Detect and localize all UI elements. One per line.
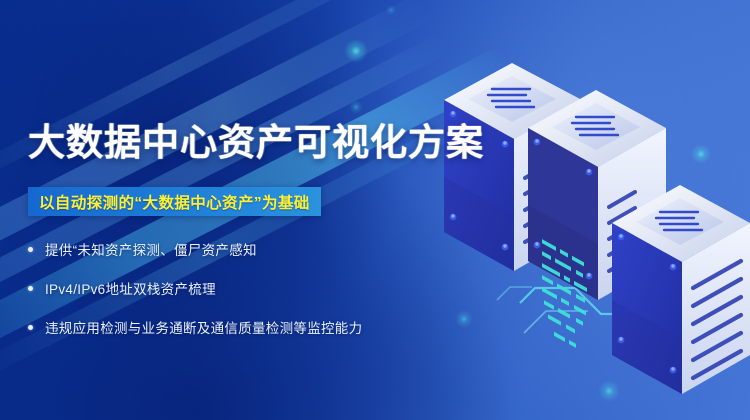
subtitle-highlight-bar: 以自动探测的“大数据中心资产”为基础 [28,187,321,216]
bullet-dot-icon [28,247,33,252]
bullet-dot-icon [28,286,33,291]
bullet-text: IPv4/IPv6地址双栈资产梳理 [45,278,216,298]
bullet-text: 提供“未知资产探测、僵尸资产感知 [45,239,257,259]
page-title: 大数据中心资产可视化方案 [28,124,484,161]
banner-root: 大数据中心资产可视化方案 以自动探测的“大数据中心资产”为基础 提供“未知资产探… [0,0,750,420]
server-rack-right [612,185,750,394]
list-item: 违规应用检测与业务通断及通信质量检测等监控能力 [28,314,362,340]
feature-bullet-list: 提供“未知资产探测、僵尸资产感知 IPv4/IPv6地址双栈资产梳理 违规应用检… [28,236,362,353]
subtitle-text: 以自动探测的“大数据中心资产”为基础 [39,191,310,213]
server-racks-illustration [430,55,750,420]
isometric-servers-icon [430,55,750,420]
bullet-text: 违规应用检测与业务通断及通信质量检测等监控能力 [45,317,362,337]
text-content-block: 大数据中心资产可视化方案 以自动探测的“大数据中心资产”为基础 提供“未知资产探… [0,0,430,420]
list-item: IPv4/IPv6地址双栈资产梳理 [28,275,362,301]
bullet-dot-icon [28,325,33,330]
list-item: 提供“未知资产探测、僵尸资产感知 [28,236,362,262]
